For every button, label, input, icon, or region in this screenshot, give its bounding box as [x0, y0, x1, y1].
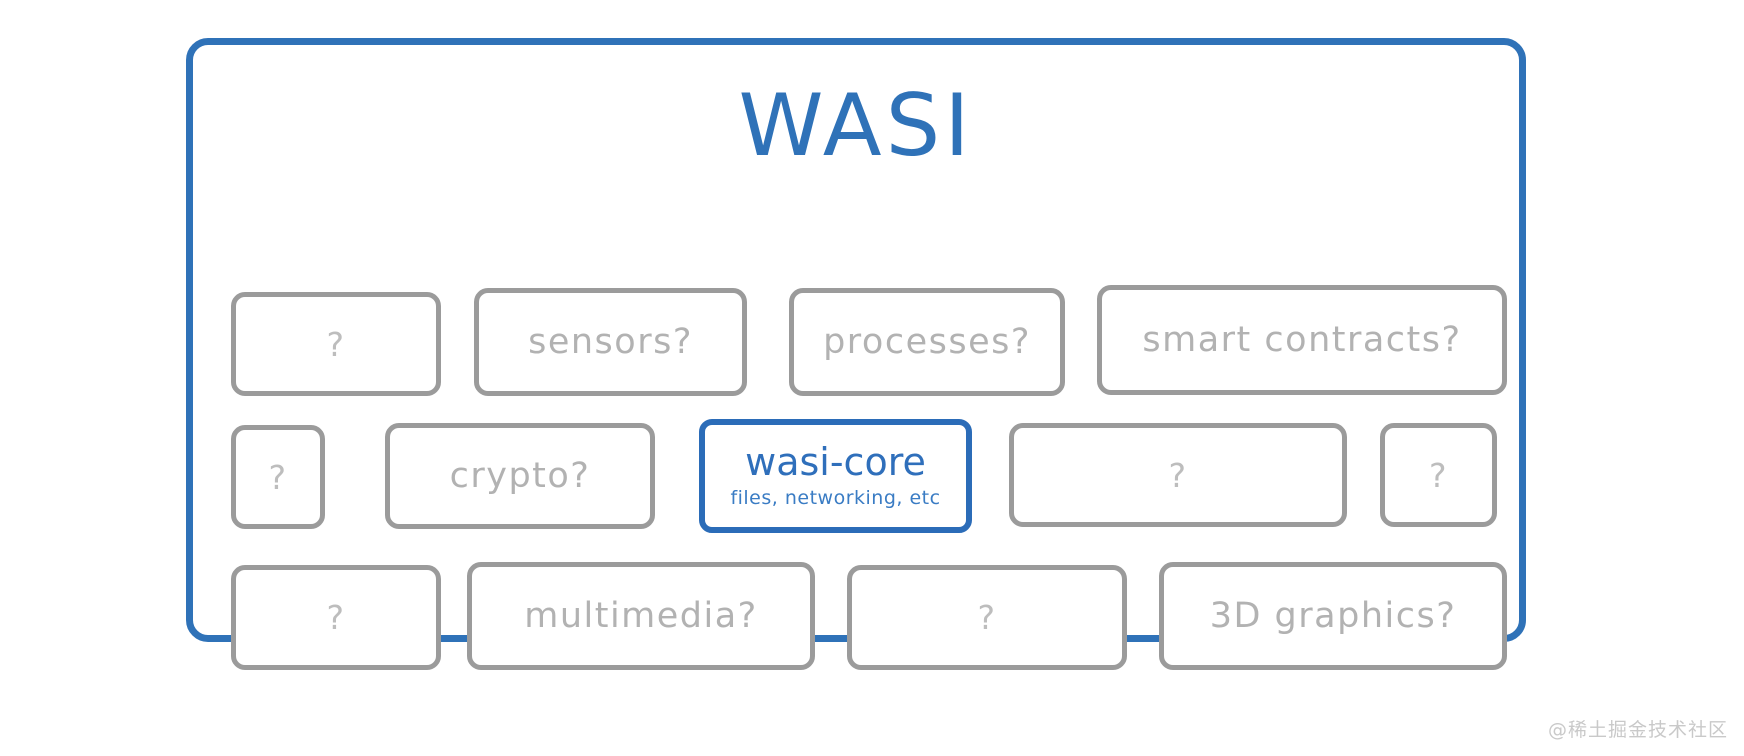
- module-box-multimedia-r3c2[interactable]: multimedia?: [467, 562, 815, 670]
- module-box-unknown-r2c1[interactable]: ?: [231, 425, 325, 529]
- module-box-3d-graphics-r3c4[interactable]: 3D graphics?: [1159, 562, 1507, 670]
- module-box-processes-r1c3[interactable]: processes?: [789, 288, 1065, 396]
- module-box-smart-contracts-r1c4[interactable]: smart contracts?: [1097, 285, 1507, 395]
- module-label: ?: [326, 325, 345, 364]
- module-label: ?: [1429, 456, 1448, 495]
- module-label: ?: [326, 598, 345, 637]
- module-label: sensors?: [528, 322, 693, 362]
- page-title: WASI: [193, 83, 1519, 169]
- module-label: processes?: [823, 322, 1031, 362]
- module-label: crypto?: [450, 456, 591, 496]
- watermark: @稀土掘金技术社区: [1548, 715, 1728, 742]
- module-box-sensors-r1c2[interactable]: sensors?: [474, 288, 747, 396]
- module-box-crypto-r2c2[interactable]: crypto?: [385, 423, 655, 529]
- wasi-frame: WASI ?sensors?processes?smart contracts?…: [186, 38, 1526, 642]
- module-label: 3D graphics?: [1210, 596, 1457, 636]
- module-label: wasi-core: [745, 443, 926, 483]
- module-box-unknown-r1c1[interactable]: ?: [231, 292, 441, 396]
- module-box-unknown-r2c4[interactable]: ?: [1009, 423, 1347, 527]
- module-box-unknown-r3c1[interactable]: ?: [231, 565, 441, 670]
- module-sublabel: files, networking, etc: [730, 487, 940, 509]
- module-box-wasi-core[interactable]: wasi-corefiles, networking, etc: [699, 419, 972, 533]
- module-label: multimedia?: [524, 596, 758, 636]
- module-box-unknown-r2c5[interactable]: ?: [1380, 423, 1497, 527]
- module-label: ?: [1168, 456, 1187, 495]
- module-label: smart contracts?: [1142, 320, 1461, 360]
- module-label: ?: [977, 598, 996, 637]
- module-label: ?: [268, 458, 287, 497]
- module-box-unknown-r3c3[interactable]: ?: [847, 565, 1127, 670]
